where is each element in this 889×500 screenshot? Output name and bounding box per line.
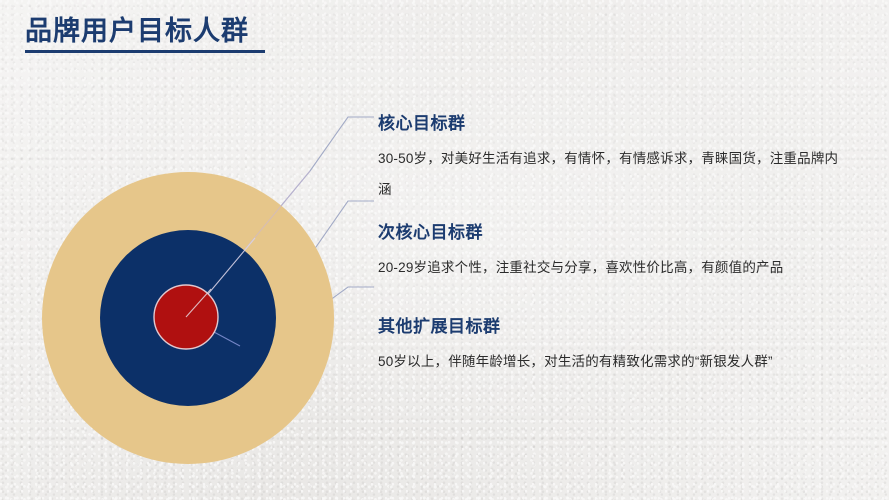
slide-canvas: 品牌用户目标人群 核心目标群 30-50岁，对美好生活有追求，有情怀，有情感诉求… — [0, 0, 889, 500]
section-sub-core: 次核心目标群 20-29岁追求个性，注重社交与分享，喜欢性价比高，有颜值的产品 — [378, 218, 889, 283]
section-sub-core-body: 20-29岁追求个性，注重社交与分享，喜欢性价比高，有颜值的产品 — [378, 252, 889, 283]
section-sub-core-heading: 次核心目标群 — [378, 218, 889, 243]
section-extended-body: 50岁以上，伴随年龄增长，对生活的有精致化需求的“新银发人群” — [378, 346, 889, 377]
section-core-heading: 核心目标群 — [378, 109, 848, 134]
section-core-body: 30-50岁，对美好生活有追求，有情怀，有情感诉求，青睐国货，注重品牌内涵 — [378, 143, 848, 205]
section-core: 核心目标群 30-50岁，对美好生活有追求，有情怀，有情感诉求，青睐国货，注重品… — [378, 109, 848, 205]
section-extended: 其他扩展目标群 50岁以上，伴随年龄增长，对生活的有精致化需求的“新银发人群” — [378, 312, 889, 377]
section-extended-heading: 其他扩展目标群 — [378, 312, 889, 337]
